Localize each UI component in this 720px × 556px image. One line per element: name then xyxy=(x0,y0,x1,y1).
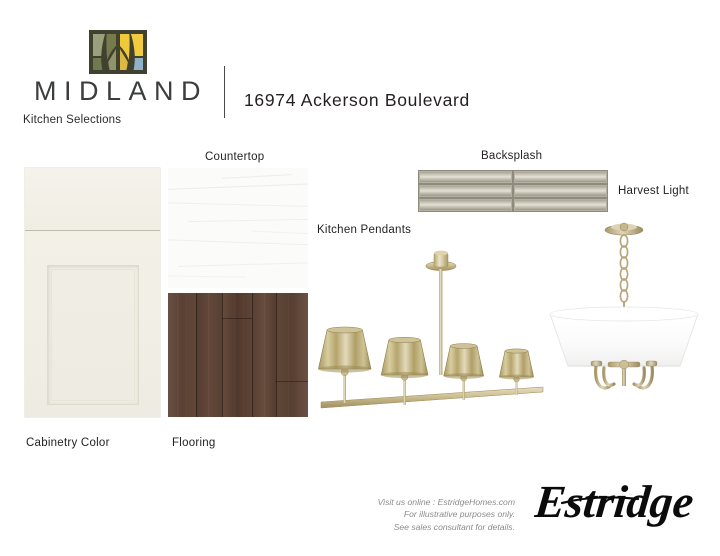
estridge-script-logo: Estridge xyxy=(534,473,714,535)
footer-line-website: Visit us online : EstridgeHomes.com xyxy=(340,496,515,508)
selection-sheet: MIDLAND Kitchen Selections 16974 Ackerso… xyxy=(0,0,720,556)
footer-disclaimer: Visit us online : EstridgeHomes.com For … xyxy=(340,496,515,533)
swatch-countertop xyxy=(168,168,308,288)
swatch-flooring xyxy=(168,293,308,417)
label-backsplash: Backsplash xyxy=(481,150,542,162)
footer-line-illustrative: For illustrative purposes only. xyxy=(340,508,515,520)
fixture-kitchen-pendants-icon xyxy=(315,235,550,417)
tile xyxy=(419,185,512,197)
brand-name: MIDLAND xyxy=(24,78,218,105)
midland-brand-block: MIDLAND Kitchen Selections xyxy=(18,24,218,126)
label-harvest-light: Harvest Light xyxy=(618,185,689,197)
tile xyxy=(514,171,607,183)
swatch-backsplash xyxy=(418,170,608,212)
fixture-harvest-light-icon xyxy=(540,218,718,414)
swatch-cabinetry-color xyxy=(25,168,160,417)
midland-m-mark-icon xyxy=(89,30,147,74)
label-flooring: Flooring xyxy=(172,437,216,449)
tile xyxy=(419,199,512,211)
estridge-logo-text: Estridge xyxy=(534,476,696,527)
brand-subtitle: Kitchen Selections xyxy=(18,114,218,126)
label-cabinetry-color: Cabinetry Color xyxy=(26,437,110,449)
footer-line-consultant: See sales consultant for details. xyxy=(340,521,515,533)
label-countertop: Countertop xyxy=(205,151,264,163)
cabinet-door-front xyxy=(25,232,160,417)
cabinet-drawer-front xyxy=(25,168,160,231)
tile xyxy=(514,199,607,211)
header-divider xyxy=(224,66,225,118)
tile xyxy=(514,185,607,197)
header: MIDLAND Kitchen Selections 16974 Ackerso… xyxy=(0,24,720,136)
cabinet-center-panel xyxy=(47,265,139,405)
page-title: 16974 Ackerson Boulevard xyxy=(244,90,470,111)
tile xyxy=(419,171,512,183)
